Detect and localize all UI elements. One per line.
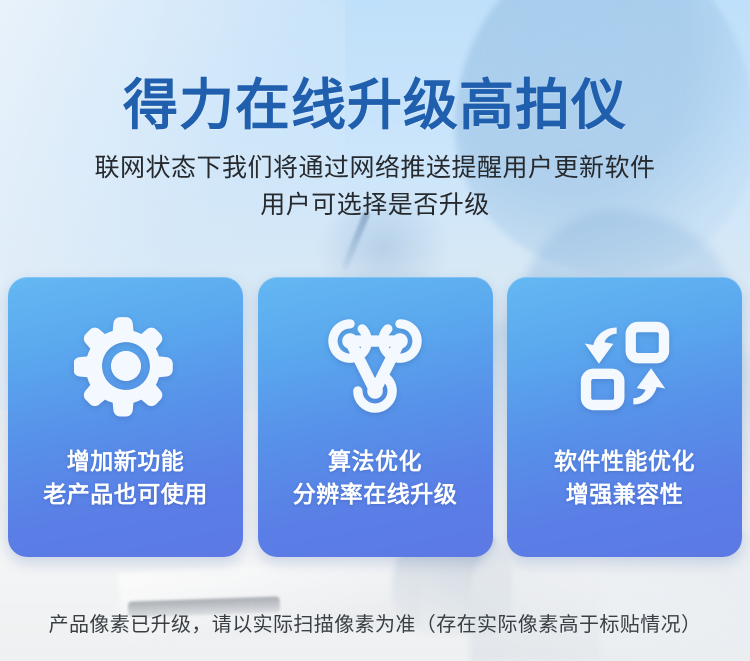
subtitle-block: 联网状态下我们将通过网络推送提醒用户更新软件 用户可选择是否升级 [0,150,750,224]
feature-card-labels: 增加新功能 老产品也可使用 [43,445,208,512]
feature-label-line-1: 软件性能优化 [554,445,695,478]
feature-label-line-2: 增强兼容性 [554,478,695,511]
page-title: 得力在线升级高拍仪 [0,0,750,134]
feature-card-compatibility[interactable]: 软件性能优化 增强兼容性 [507,277,742,557]
subtitle-line-2: 用户可选择是否升级 [0,187,750,224]
feature-label-line-1: 增加新功能 [43,445,208,478]
feature-label-line-2: 老产品也可使用 [43,478,208,511]
heading-block: 得力在线升级高拍仪 联网状态下我们将通过网络推送提醒用户更新软件 用户可选择是否… [0,0,750,224]
feature-card-list: 增加新功能 老产品也可使用 [8,277,742,557]
gear-icon [74,277,178,441]
footnote-text: 产品像素已升级，请以实际扫描像素为准（存在实际像素高于标贴情况） [0,608,750,637]
feature-card-labels: 算法优化 分辨率在线升级 [293,445,458,512]
feature-card-algorithm[interactable]: 算法优化 分辨率在线升级 [258,277,493,557]
feature-card-new-functions[interactable]: 增加新功能 老产品也可使用 [8,277,243,557]
compatibility-exchange-icon [573,277,677,441]
promo-banner: 得力在线升级高拍仪 联网状态下我们将通过网络推送提醒用户更新软件 用户可选择是否… [0,0,750,661]
feature-card-labels: 软件性能优化 增强兼容性 [554,445,695,512]
network-nodes-icon [323,277,427,441]
subtitle-line-1: 联网状态下我们将通过网络推送提醒用户更新软件 [0,150,750,187]
feature-label-line-1: 算法优化 [293,445,458,478]
feature-label-line-2: 分辨率在线升级 [293,478,458,511]
